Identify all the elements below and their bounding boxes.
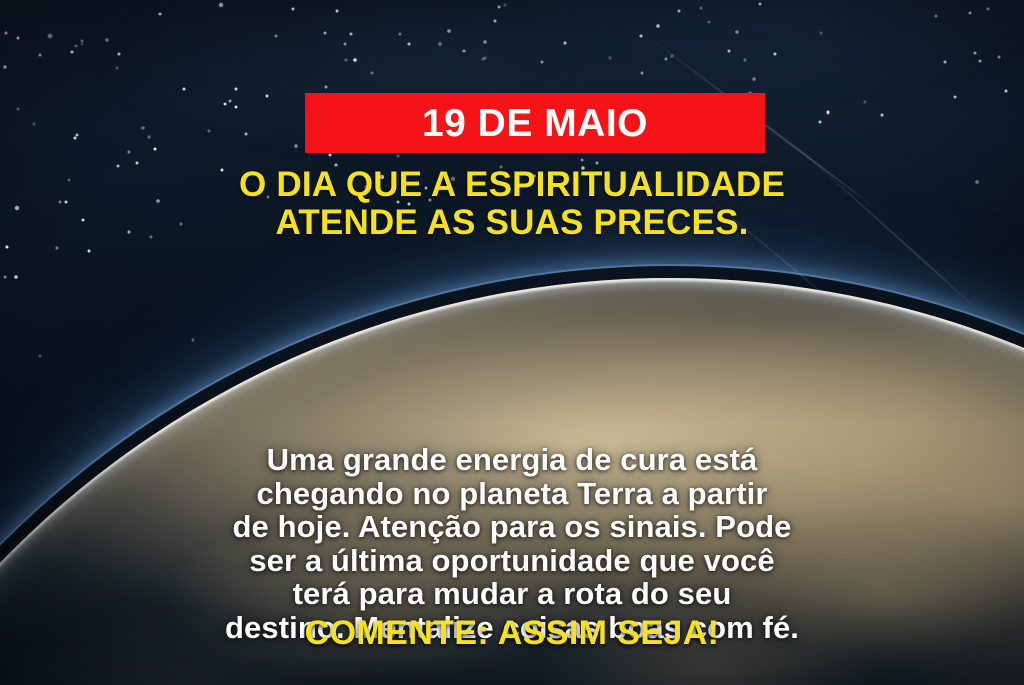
- body-line-3: de hoje. Atenção para os sinais. Pode: [52, 510, 972, 544]
- headline: O DIA QUE A ESPIRITUALIDADE ATENDE AS SU…: [0, 166, 1024, 242]
- date-banner-label: 19 DE MAIO: [422, 104, 648, 143]
- body-line-4: ser a última oportunidade que você: [52, 544, 972, 578]
- call-to-action-text: COMENTE: ASSIM SEJA!: [0, 614, 1024, 652]
- body-line-5: terá para mudar a rota do seu: [52, 577, 972, 611]
- poster-image: 19 DE MAIO O DIA QUE A ESPIRITUALIDADE A…: [0, 0, 1024, 685]
- body-line-2: chegando no planeta Terra a partir: [52, 477, 972, 511]
- poster-content: 19 DE MAIO O DIA QUE A ESPIRITUALIDADE A…: [0, 0, 1024, 685]
- headline-line-1: O DIA QUE A ESPIRITUALIDADE: [0, 166, 1024, 204]
- body-line-1: Uma grande energia de cura está: [52, 443, 972, 477]
- headline-line-2: ATENDE AS SUAS PRECES.: [0, 204, 1024, 242]
- date-banner: 19 DE MAIO: [305, 93, 765, 153]
